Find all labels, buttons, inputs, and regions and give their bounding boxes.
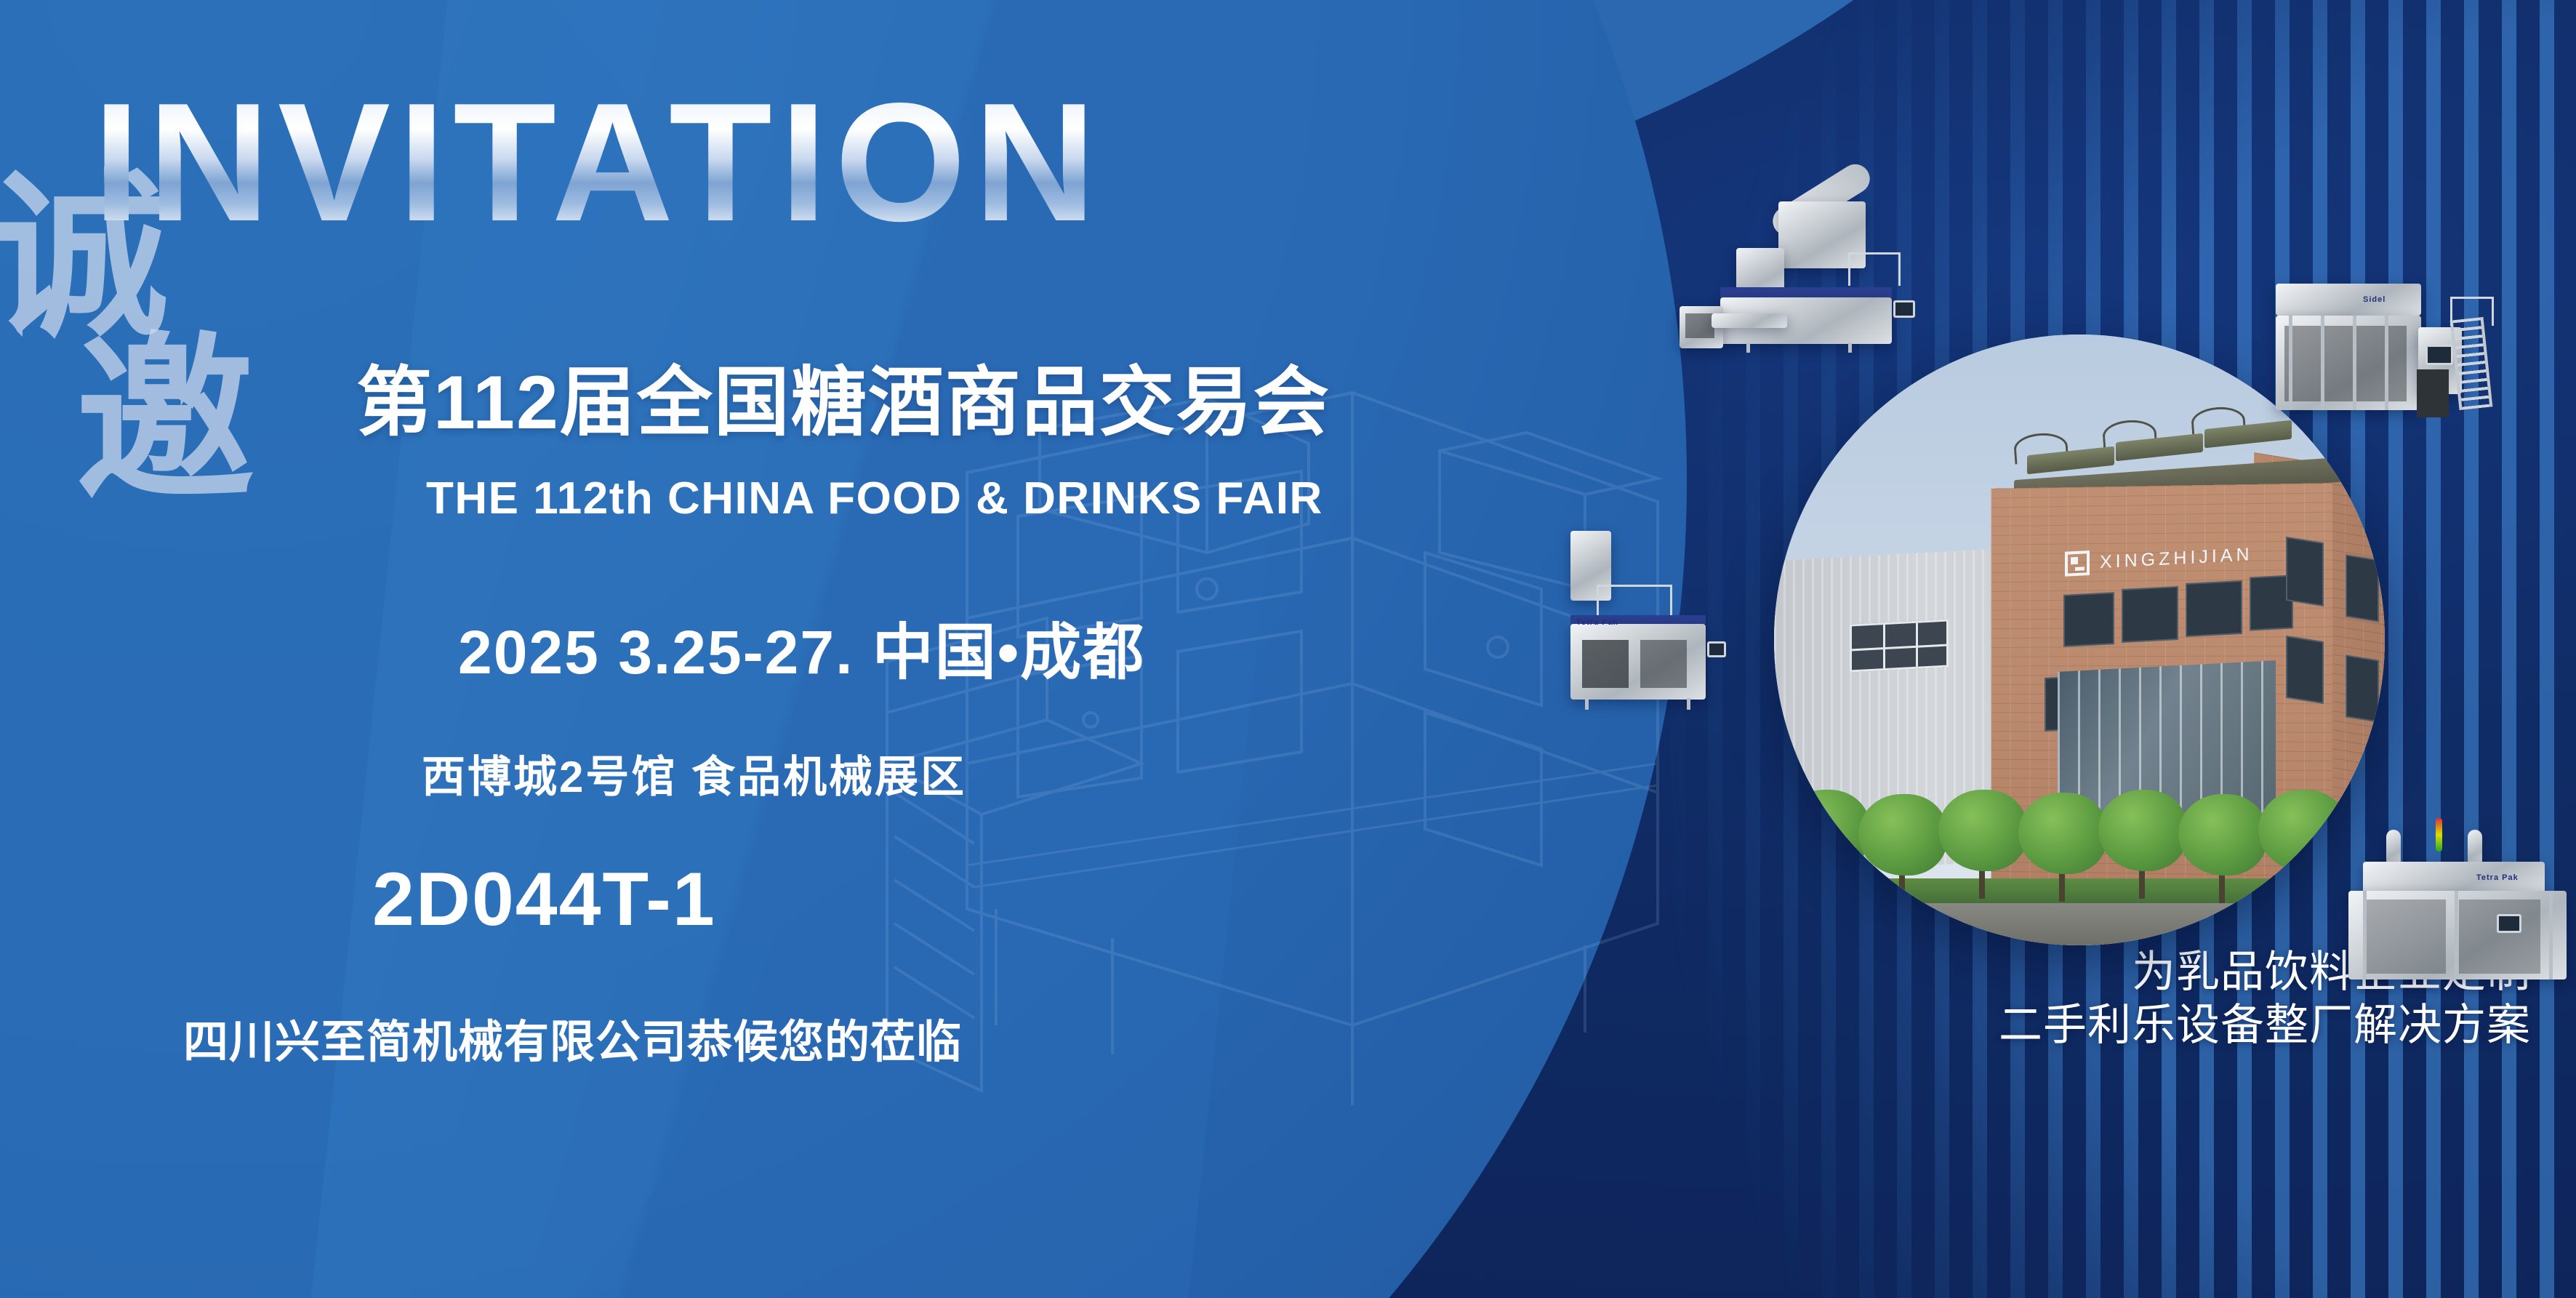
photo-window xyxy=(2286,636,2324,704)
photo-window xyxy=(2346,654,2379,722)
machine-photo-carton-packer: Tetra Pak xyxy=(2348,818,2576,985)
photo-window xyxy=(2063,592,2114,647)
company-logo-icon xyxy=(2065,550,2090,577)
photo-tree xyxy=(2018,793,2107,902)
photo-window xyxy=(2186,580,2242,637)
booth-number: 2D044T-1 xyxy=(372,857,716,943)
machine-photo-aseptic-unit: Tetra Pak xyxy=(1570,531,1803,713)
invitation-poster: 诚 邀 INVITATION 第112届全国糖酒商品交易会 THE 112th … xyxy=(0,0,2576,1298)
photo-tree xyxy=(1781,790,1870,899)
fair-title-english: THE 112th CHINA FOOD & DRINKS FAIR xyxy=(426,473,1323,524)
photo-window xyxy=(2286,537,2324,606)
fair-title-chinese: 第112届全国糖酒商品交易会 xyxy=(356,340,1331,450)
photo-tree-row xyxy=(1774,778,2385,945)
machine-photo-blow-molder: Sidel xyxy=(2276,284,2516,440)
tagline-line-2: 二手利乐设备整厂解决方案 xyxy=(1999,998,2531,1051)
hall-and-zone: 西博城2号馆 食品机械展区 xyxy=(422,742,966,805)
photo-tree xyxy=(1938,790,2027,899)
photo-tree xyxy=(1858,794,1947,903)
photo-window xyxy=(2346,554,2379,622)
photo-window xyxy=(2122,586,2178,643)
machine-photo-filling-line xyxy=(1680,185,1963,353)
company-welcome-line: 四川兴至简机械有限公司恭候您的莅临 xyxy=(183,1005,962,1070)
photo-tree xyxy=(2178,794,2267,903)
date-and-location: 2025 3.25-27. 中国•成都 xyxy=(458,604,1145,692)
photo-tree xyxy=(2098,790,2187,899)
photo-warehouse-window xyxy=(1850,619,1949,672)
